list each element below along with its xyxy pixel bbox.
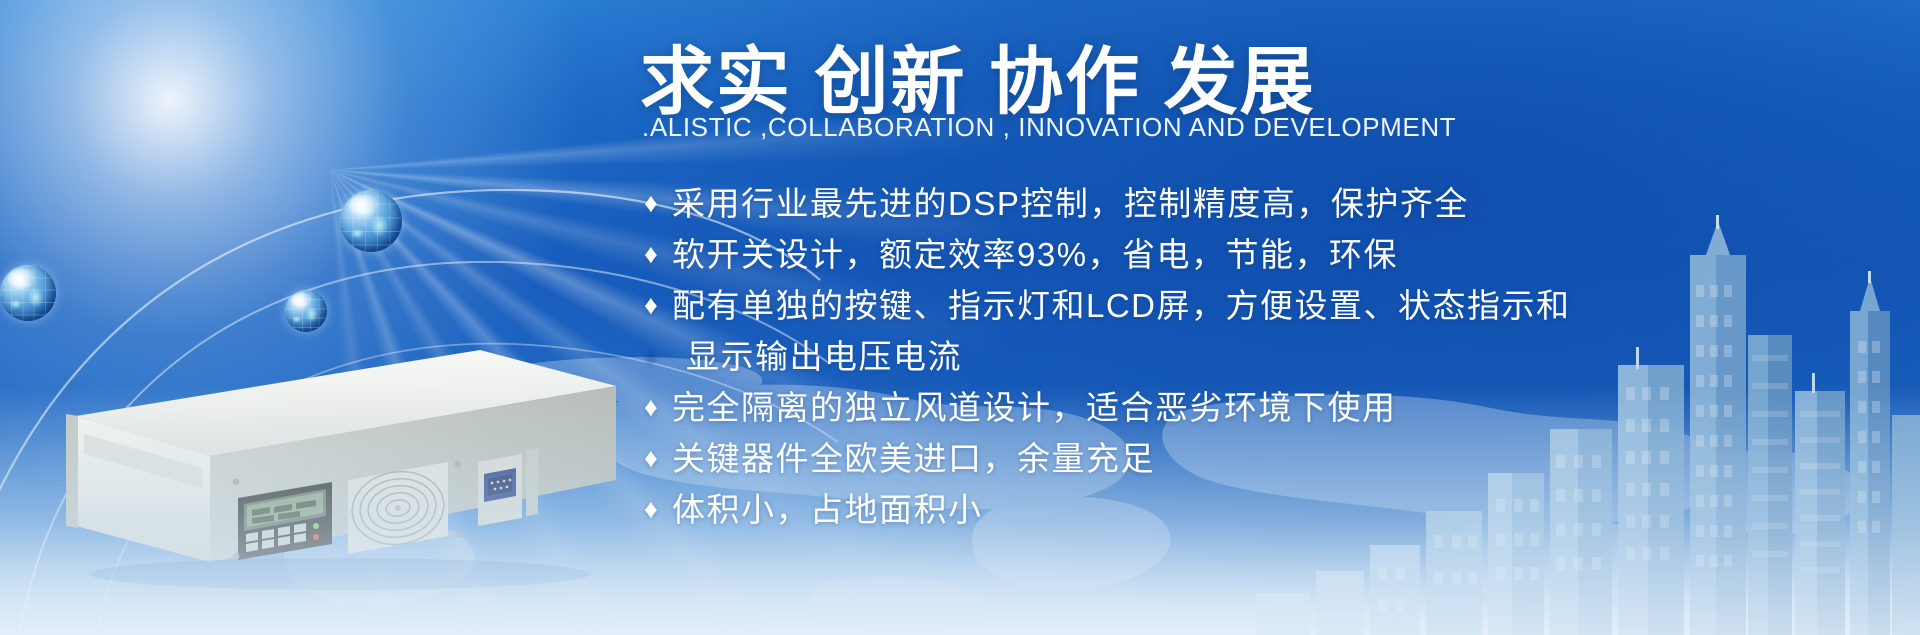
globe-icon: [0, 265, 56, 321]
diamond-bullet-icon: ♦: [644, 433, 672, 484]
list-item-label: 显示输出电压电流: [672, 331, 962, 382]
list-item-label: 软开关设计，额定效率93%，省电，节能，环保: [672, 229, 1398, 280]
page-subtitle: .ALISTIC ,COLLABORATION , INNOVATION AND…: [642, 112, 1456, 143]
diamond-bullet-icon: ♦: [644, 229, 672, 280]
list-item-label: 完全隔离的独立风道设计，适合恶劣环境下使用: [672, 382, 1397, 433]
list-item: ♦ 采用行业最先进的DSP控制，控制精度高，保护齐全: [644, 178, 1884, 229]
list-item: ♦ 完全隔离的独立风道设计，适合恶劣环境下使用: [644, 382, 1884, 433]
list-item: ♦ 配有单独的按键、指示灯和LCD屏，方便设置、状态指示和: [644, 280, 1884, 331]
list-item-label: 采用行业最先进的DSP控制，控制精度高，保护齐全: [672, 178, 1469, 229]
diamond-bullet-icon: ♦: [644, 382, 672, 433]
list-item-label: 关键器件全欧美进口，余量充足: [672, 433, 1155, 484]
globe-icon: [340, 190, 402, 252]
bullet-spacer: ♦: [644, 331, 672, 382]
diamond-bullet-icon: ♦: [644, 178, 672, 229]
list-item-label: 体积小，占地面积小: [672, 484, 983, 535]
rackmount-power-supply-device: [60, 330, 620, 590]
feature-list: ♦ 采用行业最先进的DSP控制，控制精度高，保护齐全 ♦ 软开关设计，额定效率9…: [644, 178, 1884, 535]
list-item: ♦ 软开关设计，额定效率93%，省电，节能，环保: [644, 229, 1884, 280]
diamond-bullet-icon: ♦: [644, 484, 672, 535]
globe-icon: [285, 290, 327, 332]
list-item: ♦ 关键器件全欧美进口，余量充足: [644, 433, 1884, 484]
list-item-label: 配有单独的按键、指示灯和LCD屏，方便设置、状态指示和: [672, 280, 1571, 331]
promotional-banner: 求实 创新 协作 发展 .ALISTIC ,COLLABORATION , IN…: [0, 0, 1920, 635]
list-item: ♦ 体积小，占地面积小: [644, 484, 1884, 535]
diamond-bullet-icon: ♦: [644, 280, 672, 331]
banner-text-content: 求实 创新 协作 发展 .ALISTIC ,COLLABORATION , IN…: [640, 0, 1900, 635]
list-item-continuation: ♦ 显示输出电压电流: [644, 331, 1884, 382]
